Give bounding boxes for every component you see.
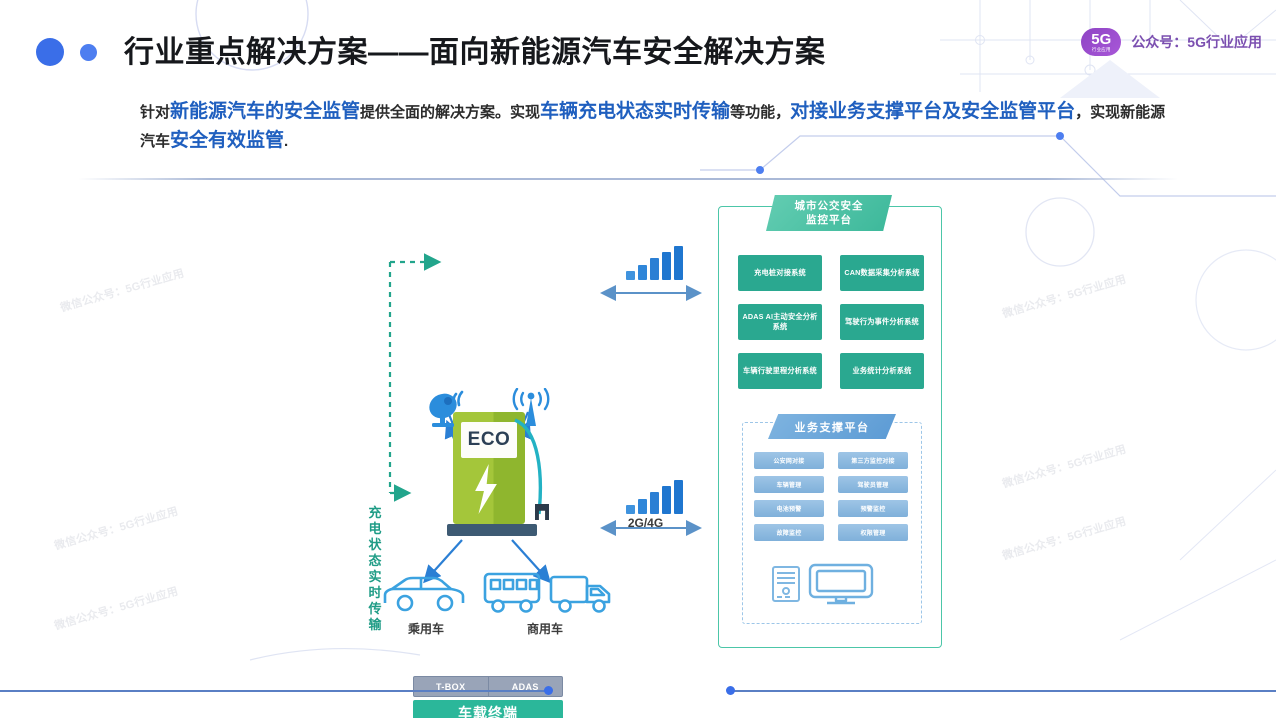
signal-indicator-bottom: 2G/4G — [608, 482, 683, 530]
lead-seg-9: . — [284, 133, 288, 150]
business-support-grid: 公安网对接 第三方监控对接 车辆管理 驾驶员管理 电池预警 预警监控 故障监控 … — [754, 452, 910, 541]
bottom-rule-dot-right — [726, 686, 735, 695]
platform-devices-icons — [770, 562, 880, 606]
signal-label-bottom: 2G/4G — [608, 516, 683, 530]
lead-paragraph: 针对新能源汽车的安全监管提供全面的解决方案。实现车辆充电状态实时传输等功能，对接… — [140, 98, 1170, 156]
bottom-rule-dot-left — [544, 686, 553, 695]
bullet-dot-small — [80, 44, 97, 61]
badge-main-text: 5G — [1091, 32, 1111, 47]
sedan-car-icon — [381, 573, 467, 615]
bullet-dot-large — [36, 38, 64, 66]
system-box[interactable]: 业务统计分析系统 — [840, 353, 924, 389]
lead-highlight-4: 安全有效监管 — [170, 130, 284, 151]
lead-highlight-2: 车辆充电状态实时传输 — [540, 101, 730, 122]
5g-badge-icon: 5G 行业应用 — [1081, 28, 1121, 56]
slide-header: 行业重点解决方案——面向新能源汽车安全解决方案 5G 行业应用 公众号：5G行业… — [0, 0, 1276, 88]
panel-title: 城市公交安全 监控平台 — [766, 195, 892, 231]
system-box[interactable]: 驾驶行为事件分析系统 — [840, 304, 924, 340]
solution-diagram: 充电状态实时传输 ECO 2G/4G — [0, 190, 1276, 660]
page-title: 行业重点解决方案——面向新能源汽车安全解决方案 — [124, 27, 826, 71]
bottom-rule-right — [730, 690, 1276, 692]
wechat-account-label: 公众号：5G行业应用 — [1131, 32, 1262, 52]
bsp-item[interactable]: 车辆管理 — [754, 476, 824, 493]
tbox-module-row: T-BOX ADAS — [413, 676, 563, 697]
business-support-title: 业务支撑平台 — [768, 414, 896, 439]
lead-seg-5: 等功能， — [730, 104, 790, 121]
bsp-item[interactable]: 权限管理 — [838, 524, 908, 541]
bsp-item[interactable]: 第三方监控对接 — [838, 452, 908, 469]
cell-tower-icon — [508, 388, 554, 432]
system-box[interactable]: ADAS AI主动安全分析系统 — [738, 304, 822, 340]
bottom-rule-left — [0, 690, 550, 692]
bsp-item[interactable]: 驾驶员管理 — [838, 476, 908, 493]
panel-title-line2: 监控平台 — [806, 213, 852, 227]
badge-sub-text: 行业应用 — [1092, 48, 1111, 53]
module-tbox: T-BOX — [414, 677, 488, 696]
system-box[interactable]: 车辆行驶里程分析系统 — [738, 353, 822, 389]
bsp-item[interactable]: 电池预警 — [754, 500, 824, 517]
signal-bars-icon — [626, 248, 683, 280]
vehicle-terminal-box: 车载终端 — [413, 700, 563, 718]
panel-title-line1: 城市公交安全 — [795, 199, 864, 213]
slide-root: 微信公众号：5G行业应用 微信公众号：5G行业应用 微信公众号：5G行业应用 微… — [0, 0, 1276, 718]
lead-seg-1: 针对 — [140, 104, 170, 121]
vehicle-label-passenger: 乘用车 — [383, 620, 469, 637]
lead-highlight-1: 新能源汽车的安全监管 — [170, 101, 360, 122]
bsp-item[interactable]: 预警监控 — [838, 500, 908, 517]
bsp-item[interactable]: 故障监控 — [754, 524, 824, 541]
system-box-grid: 充电桩对接系统 CAN数据采集分析系统 ADAS AI主动安全分析系统 驾驶行为… — [738, 255, 924, 389]
signal-bars-icon — [626, 482, 683, 514]
system-box[interactable]: 充电桩对接系统 — [738, 255, 822, 291]
lead-seg-3: 提供全面的解决方案。实现 — [360, 104, 540, 121]
signal-indicator-top — [608, 248, 683, 282]
system-box[interactable]: CAN数据采集分析系统 — [840, 255, 924, 291]
desktop-monitor-icon — [810, 565, 872, 603]
truck-icon — [548, 572, 614, 616]
server-tower-icon — [773, 567, 799, 601]
vehicle-label-commercial: 商用车 — [475, 620, 615, 637]
lead-highlight-3: 对接业务支撑平台及安全监管平台 — [790, 101, 1075, 122]
bus-icon — [481, 570, 545, 615]
satellite-dish-icon — [424, 386, 472, 430]
header-divider — [78, 178, 1178, 180]
brand-logo: 5G 行业应用 公众号：5G行业应用 — [1081, 28, 1262, 56]
bsp-item[interactable]: 公安网对接 — [754, 452, 824, 469]
